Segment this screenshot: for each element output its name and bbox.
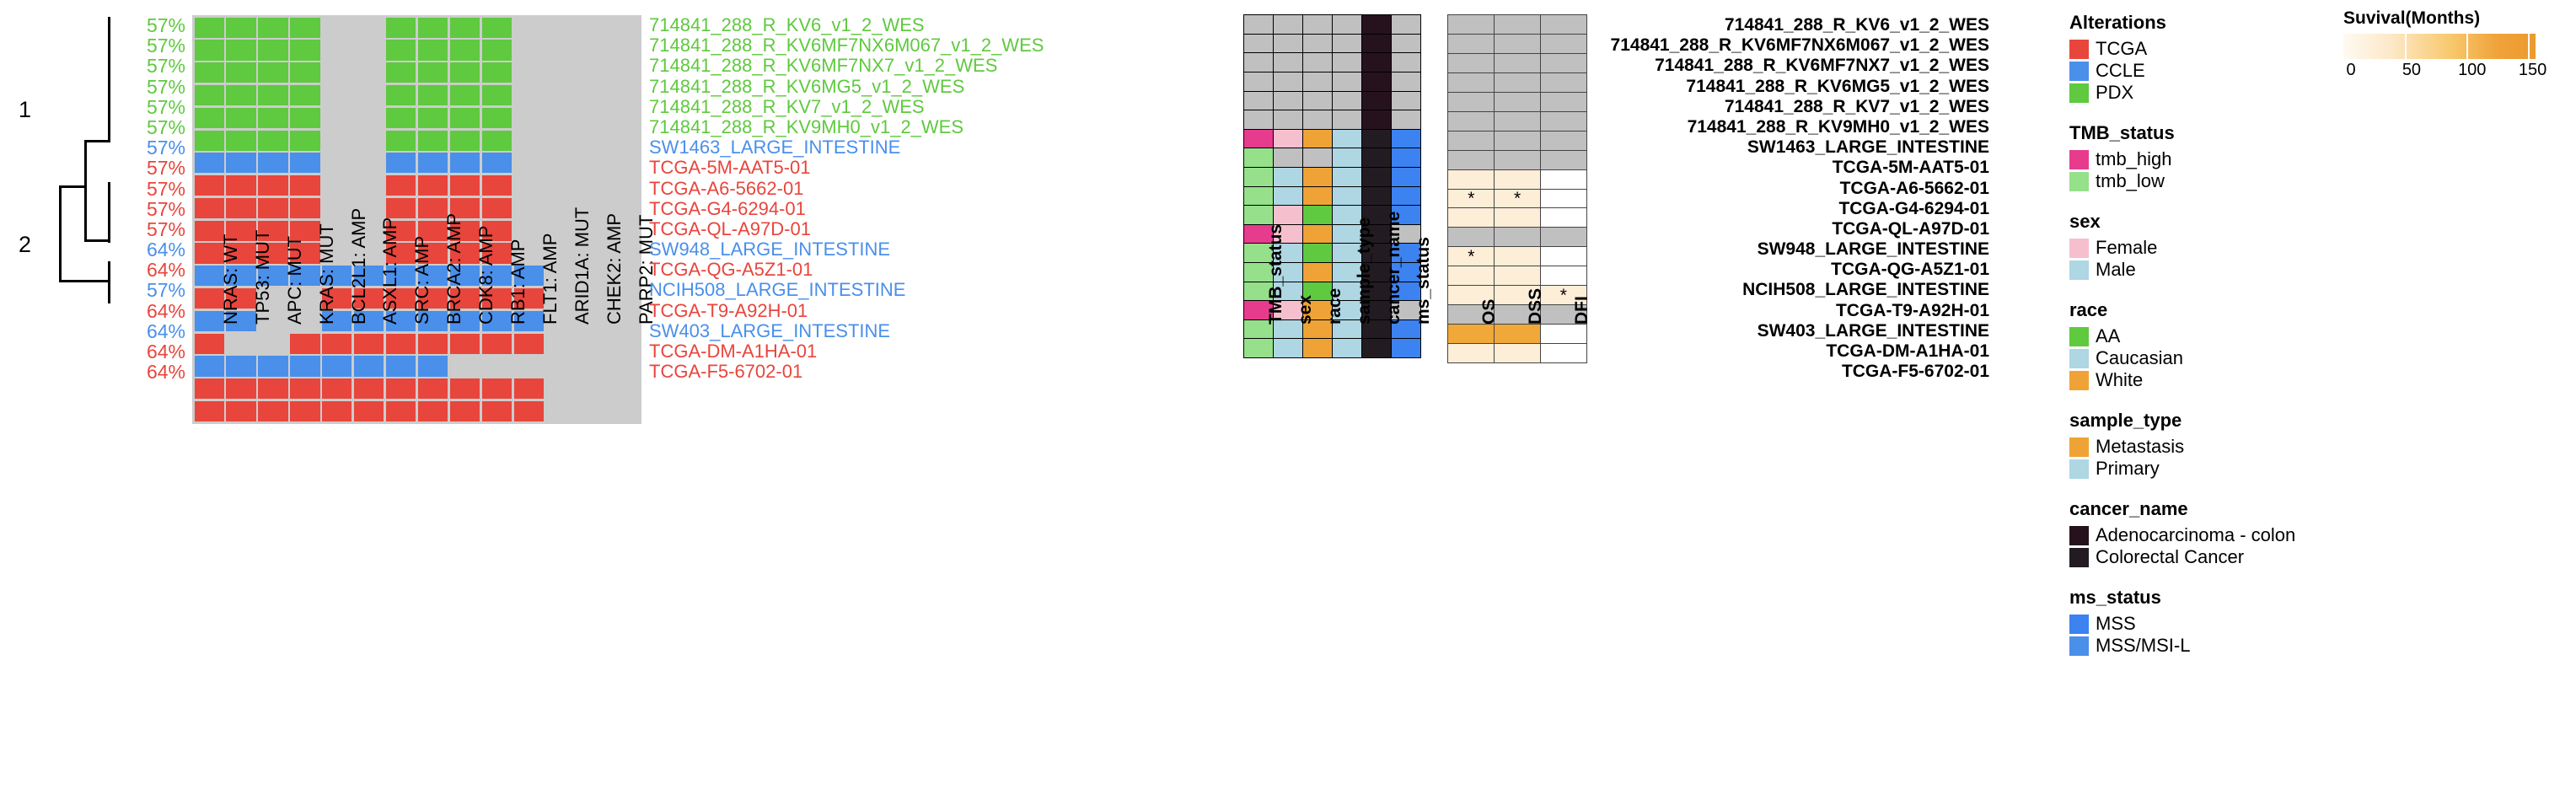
oncoprint-cell [577,131,607,151]
legend-block: cancer_nameAdenocarcinoma - colonColorec… [2069,498,2348,568]
oncoprint-cell [386,131,416,151]
dendro-branch [84,239,110,242]
oncoprint-cell [322,334,352,354]
survival-cell [1540,150,1587,170]
survival-row [1448,325,1586,344]
oncoprint-cell [482,198,512,218]
oncoprint-cell [322,108,352,128]
legend-label: PDX [2096,82,2133,104]
oncoprint-cell [322,378,352,399]
oncoprint-cell [354,334,384,354]
legend-swatch-icon [2069,615,2089,634]
survival-cell: * [1494,189,1541,209]
colorbar-tick-label: 100 [2458,61,2486,80]
oncoprint-cell [386,356,416,376]
oncoprint-cell [386,334,416,354]
legend-block: sample_typeMetastasisPrimary [2069,410,2348,480]
survival-cell [1540,131,1587,151]
oncoprint-cell [450,131,480,151]
survival-row: ** [1448,189,1586,208]
legend-item[interactable]: tmb_low [2069,170,2348,192]
alteration-percent: 57% [126,56,185,76]
oncoprint-cell [418,18,448,38]
oncoprint-cell [195,378,224,399]
oncoprint-cell [577,175,607,196]
oncoprint-cell [354,401,384,421]
legend-label: AA [2096,325,2120,347]
cluster-label-2: 2 [19,232,31,258]
dendro-branch [108,17,110,142]
oncoprint-cell [354,153,384,173]
oncoprint-cell [514,378,544,399]
oncoprint-cell [195,198,224,218]
clinical-cell [1361,186,1393,207]
oncoprint-cell [514,334,544,354]
clinical-cell [1332,167,1363,187]
clinical-cell [1302,110,1334,130]
oncoprint-row [192,334,641,354]
alteration-percent: 57% [126,158,185,178]
clinical-cell [1302,91,1334,111]
oncoprint-cell [514,18,544,38]
oncoprint-cell [418,334,448,354]
oncoprint-cell [609,175,639,196]
legend-item[interactable]: Caucasian [2069,347,2348,369]
survival-column-label: DFI [1572,296,1592,325]
oncoprint-cell [226,401,255,421]
oncoprint-cell [386,85,416,105]
clinical-cell [1302,243,1334,263]
oncoprint-cell [418,153,448,173]
oncoprint-cell [577,62,607,83]
survival-cell [1494,150,1541,170]
clinical-cell [1243,110,1275,130]
gene-label: ARID1A: MUT [572,207,593,325]
legend-swatch-icon [2069,150,2089,169]
oncoprint-cell [577,85,607,105]
alteration-percent-column: 57%57%57%57%57%57%57%57%57%57%57%64%64%5… [126,15,185,382]
oncoprint-cell [226,175,255,196]
colorbar-tick-label: 150 [2519,61,2546,80]
clinical-cell [1243,34,1275,54]
sample-names-left: 714841_288_R_KV6_v1_2_WES714841_288_R_KV… [649,15,1044,382]
gene-label: RB1: AMP [507,239,529,325]
clinical-cell [1273,91,1304,111]
clinical-cell [1332,14,1363,35]
gene-label: BRCA2: AMP [443,213,465,325]
oncoprint-cell [609,108,639,128]
oncoprint-cell [354,108,384,128]
gene-label: NRAS: WT [220,233,242,325]
clinical-cell [1332,91,1363,111]
legend-item[interactable]: PDX [2069,82,2348,104]
oncoprint-cell [545,334,575,354]
survival-cell [1494,111,1541,131]
sample-name: 714841_288_R_KV6MG5_v1_2_WES [649,77,1044,97]
oncoprint-cell [322,18,352,38]
colorbar-tick-label: 0 [2347,61,2356,80]
clinical-cell [1243,91,1275,111]
oncoprint-cell [322,175,352,196]
clinical-cell [1391,167,1422,187]
oncoprint-cell [482,108,512,128]
oncoprint-cell [226,18,255,38]
oncoprint-cell [386,175,416,196]
clinical-row [1244,339,1420,358]
clinical-column-label: race [1325,288,1345,325]
clinical-cell [1302,262,1334,282]
alteration-percent: 57% [126,179,185,199]
sample-name: TCGA-QG-A5Z1-01 [649,260,1044,280]
alteration-percent: 64% [126,260,185,280]
legend-title: TMB_status [2069,122,2348,144]
sample-name: TCGA-F5-6702-01 [649,362,1044,382]
oncoprint-cell [545,85,575,105]
clinical-cell [1243,14,1275,35]
gene-label: BCL2L1: AMP [348,208,370,325]
clinical-row [1244,110,1420,130]
survival-row: * [1448,247,1586,266]
dendro-branch [59,185,62,282]
oncoprint-cell [258,62,287,83]
oncoprint-cell [577,40,607,60]
legend-item[interactable]: White [2069,369,2348,391]
oncoprint-cell [226,131,255,151]
oncoprint-cell [290,198,319,218]
clinical-cell [1332,129,1363,149]
alteration-percent: 57% [126,280,185,300]
legend-item[interactable]: CCLE [2069,60,2348,82]
sample-name: TCGA-QL-A97D-01 [1602,219,1989,239]
clinical-cell [1361,148,1393,168]
oncoprint-cell [322,131,352,151]
oncoprint-cell [450,62,480,83]
oncoprint-cell [577,153,607,173]
sample-names-right: 714841_288_R_KV6_v1_2_WES714841_288_R_KV… [1602,15,1989,382]
oncoprint-cell [482,153,512,173]
oncoprint-cell [322,62,352,83]
survival-cell [1447,169,1495,190]
legend-title: ms_status [2069,587,2348,609]
survival-cell [1447,14,1495,35]
clinical-row [1244,72,1420,92]
oncoprint-cell [258,198,287,218]
sample-name: TCGA-G4-6294-01 [1602,199,1989,219]
survival-cell [1494,169,1541,190]
cluster-label-1: 1 [19,97,31,123]
colorbar-tick-label: 50 [2402,61,2421,80]
clinical-cell [1302,186,1334,207]
sample-name: TCGA-QL-A97D-01 [649,219,1044,239]
oncoprint-cell [545,356,575,376]
clinical-cell [1391,14,1422,35]
clinical-cell [1243,338,1275,358]
oncoprint-cell [482,175,512,196]
oncoprint-cell [482,131,512,151]
gene-label: CHEK2: AMP [604,213,625,325]
oncoprint-cell [450,18,480,38]
oncoprint-cell [195,85,224,105]
clinical-cell [1391,148,1422,168]
legend-swatch-icon [2069,260,2089,280]
clinical-cell [1361,52,1393,72]
legend-label: CCLE [2096,60,2145,82]
sample-name: TCGA-A6-5662-01 [1602,179,1989,199]
oncoprint-cell [195,356,224,376]
oncoprint-cell [290,356,319,376]
oncoprint-cell [577,401,607,421]
sample-name: 714841_288_R_KV6MF7NX7_v1_2_WES [649,56,1044,76]
legend-item[interactable]: MSS/MSI-L [2069,635,2348,657]
clinical-cell [1332,110,1363,130]
sample-name: TCGA-T9-A92H-01 [1602,301,1989,321]
oncoprint-cell [386,62,416,83]
oncoprint-cell [354,378,384,399]
oncoprint-cell [545,175,575,196]
oncoprint-cell [418,40,448,60]
legend-label: Caucasian [2096,347,2183,369]
oncoprint-cell [226,198,255,218]
survival-colorbar: Suvival(Months) 050100150 [2343,8,2571,79]
clinical-row [1244,186,1420,206]
sample-name: TCGA-5M-AAT5-01 [649,158,1044,178]
oncoprint-cell [322,356,352,376]
oncoprint-cell [418,378,448,399]
survival-cell [1494,92,1541,112]
oncoprint-cell [450,40,480,60]
clinical-cell [1332,148,1363,168]
legend-title: cancer_name [2069,498,2348,520]
oncoprint-cell [609,378,639,399]
survival-cell [1540,266,1587,286]
legend-item[interactable]: TCGA [2069,38,2348,60]
oncoprint-cell [609,356,639,376]
clinical-cell [1243,205,1275,225]
oncoprint-cell [577,356,607,376]
oncoprint-cell [290,153,319,173]
sample-name: SW403_LARGE_INTESTINE [649,321,1044,341]
clinical-cell [1273,148,1304,168]
legend-item[interactable]: AA [2069,325,2348,347]
oncoprint-cell [290,40,319,60]
legend-block: sexFemaleMale [2069,211,2348,281]
clinical-cell [1273,205,1304,225]
survival-heatmap: **** [1448,15,1586,362]
legend-item[interactable]: Adenocarcinoma - colon [2069,524,2348,546]
legend-label: TCGA [2096,38,2147,60]
oncoprint-cell [258,131,287,151]
legend-item[interactable]: MSS [2069,613,2348,635]
oncoprint-cell [226,62,255,83]
survival-cell [1540,246,1587,266]
clinical-cell [1391,34,1422,54]
oncoprint-cell [195,175,224,196]
survival-cell [1540,207,1587,228]
oncoprint-cell [418,356,448,376]
clinical-row [1244,53,1420,72]
oncoprint-cell [450,108,480,128]
oncoprint-cell [226,378,255,399]
clinical-cell [1243,129,1275,149]
clinical-cell [1273,72,1304,92]
survival-cell: * [1447,246,1495,266]
sample-name: TCGA-T9-A92H-01 [649,301,1044,321]
survival-row [1448,112,1586,131]
legend-item[interactable]: tmb_high [2069,148,2348,170]
alteration-percent: 57% [126,97,185,117]
sample-name: TCGA-DM-A1HA-01 [1602,341,1989,362]
row-dendrogram [25,17,135,303]
sample-name: TCGA-G4-6294-01 [649,199,1044,219]
survival-column-label: DSS [1526,288,1546,325]
survival-row [1448,73,1586,93]
oncoprint-cell [609,18,639,38]
survival-cell [1540,189,1587,209]
oncoprint-cell [545,108,575,128]
oncoprint-cell [482,401,512,421]
survival-row [1448,305,1586,325]
survival-row [1448,150,1586,169]
oncoprint-row [192,131,641,151]
legend-item[interactable]: Colorectal Cancer [2069,546,2348,568]
oncoprint-cell [545,131,575,151]
oncoprint-cell [354,40,384,60]
survival-cell [1540,72,1587,93]
clinical-cell [1391,52,1422,72]
gene-label: SRC: AMP [411,236,433,325]
oncoprint-row [192,18,641,38]
legend-swatch-icon [2069,636,2089,656]
legend-block: raceAACaucasianWhite [2069,299,2348,391]
legend-label: tmb_low [2096,170,2165,192]
survival-cell [1540,34,1587,54]
survival-row [1448,208,1586,228]
clinical-row [1244,148,1420,168]
clinical-cell [1391,110,1422,130]
oncoprint-row [192,175,641,196]
clinical-cell [1273,167,1304,187]
gene-label: ASXL1: AMP [379,217,401,325]
oncoprint-cell [418,85,448,105]
alteration-percent: 64% [126,341,185,362]
survival-cell [1447,207,1495,228]
oncoprint-cell [450,401,480,421]
sample-name: 714841_288_R_KV7_v1_2_WES [1602,97,1989,117]
survival-cell [1540,343,1587,363]
oncoprint-row [192,62,641,83]
clinical-row [1244,130,1420,149]
oncoprint-cell [545,40,575,60]
clinical-row [1244,91,1420,110]
survival-cell [1447,131,1495,151]
survival-cell [1447,150,1495,170]
survival-row [1448,93,1586,112]
clinical-cell [1302,205,1334,225]
clinical-cell [1391,129,1422,149]
colorbar-ticks: 050100150 [2343,59,2536,79]
survival-cell [1494,246,1541,266]
clinical-cell [1273,14,1304,35]
oncoprint-cell [482,18,512,38]
oncoprint-cell [290,62,319,83]
clinical-cell [1361,72,1393,92]
oncoprint-cell [386,378,416,399]
dendro-branch [108,261,110,303]
oncoprint-cell [354,62,384,83]
oncoprint-cell [386,40,416,60]
sample-name: NCIH508_LARGE_INTESTINE [649,280,1044,300]
oncoprint-row [192,85,641,105]
sample-name: SW1463_LARGE_INTESTINE [1602,137,1989,158]
oncoprint-cell [290,334,319,354]
oncoprint-cell [545,401,575,421]
clinical-cell [1243,72,1275,92]
gene-label: CDK8: AMP [475,226,497,325]
legend-item[interactable]: Primary [2069,458,2348,480]
oncoprint-cell [226,153,255,173]
oncoprint-cell [514,198,544,218]
legend-item[interactable]: Male [2069,259,2348,281]
dendro-branch [59,280,110,282]
oncoprint-cell [450,85,480,105]
clinical-cell [1361,167,1393,187]
clinical-cell [1332,186,1363,207]
survival-cell [1447,53,1495,73]
clinical-row [1244,35,1420,54]
legend-swatch-icon [2069,62,2089,81]
oncoprint-cell [482,85,512,105]
sample-name: TCGA-QG-A5Z1-01 [1602,260,1989,280]
oncoprint-cell [577,108,607,128]
clinical-cell [1302,14,1334,35]
legend-title: Alterations [2069,12,2348,34]
oncoprint-cell [482,378,512,399]
legend-swatch-icon [2069,371,2089,390]
clinical-cell [1361,14,1393,35]
legend-item[interactable]: Metastasis [2069,436,2348,458]
clinical-cell [1273,110,1304,130]
colorbar-gradient [2343,34,2536,59]
legend-item[interactable]: Female [2069,237,2348,259]
oncoprint-cell [195,401,224,421]
oncoprint-cell [226,334,255,354]
oncoprint-cell [322,40,352,60]
survival-cell [1447,266,1495,286]
survival-cell: * [1447,189,1495,209]
oncoprint-cell [609,85,639,105]
oncoprint-cell [258,334,287,354]
clinical-column-label: cancer_name [1384,212,1404,325]
gene-label: APC: MUT [284,236,306,325]
oncoprint-cell [195,153,224,173]
survival-row [1448,343,1586,362]
survival-cell [1540,92,1587,112]
sample-name: 714841_288_R_KV9MH0_v1_2_WES [1602,117,1989,137]
sample-name: 714841_288_R_KV6_v1_2_WES [1602,15,1989,35]
clinical-cell [1332,338,1363,358]
alteration-percent: 57% [126,137,185,158]
oncoprint-cell [386,18,416,38]
oncoprint-cell [545,62,575,83]
survival-cell [1494,343,1541,363]
legend-block: ms_statusMSSMSS/MSI-L [2069,587,2348,657]
oncoprint-cell [482,334,512,354]
survival-row [1448,54,1586,73]
oncoprint-row [192,40,641,60]
oncoprint-cell [195,62,224,83]
legend-label: MSS [2096,613,2136,635]
survival-cell [1447,343,1495,363]
